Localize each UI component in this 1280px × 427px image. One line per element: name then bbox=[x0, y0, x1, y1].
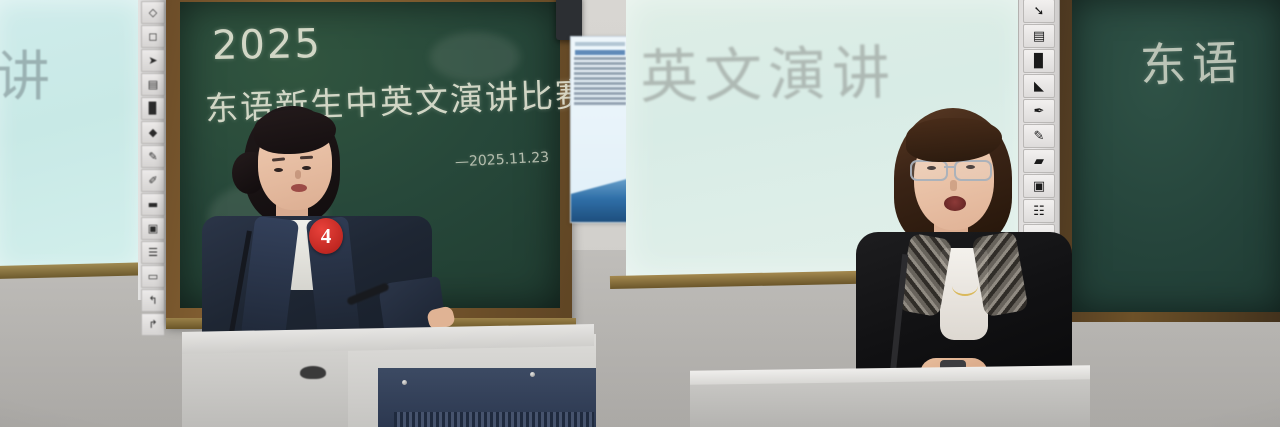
classroom-scene: 讲 ◇ ◻ ➤ ▤ ▉ ◆ ✎ ✐ ▬ ▣ ☰ ▭ ↰ ↱ 2025 东语新生中… bbox=[0, 0, 1280, 427]
smartboard-toolbar-left[interactable]: ◇ ◻ ➤ ▤ ▉ ◆ ✎ ✐ ▬ ▣ ☰ ▭ ↰ ↱ bbox=[138, 0, 169, 300]
projection-right-text: 英文演讲 bbox=[639, 26, 896, 114]
podium-left-side-panel bbox=[182, 346, 350, 427]
ceiling-vent bbox=[556, 0, 582, 40]
eye bbox=[302, 166, 311, 170]
speaker-right bbox=[848, 108, 1078, 393]
chalkboard-right-text: 东语 bbox=[1139, 27, 1245, 96]
pencil-tool-icon[interactable]: ✐ bbox=[141, 169, 165, 192]
glasses-bridge bbox=[944, 166, 954, 168]
panel-screw bbox=[402, 380, 407, 385]
redo-tool-icon[interactable]: ↱ bbox=[141, 313, 165, 336]
cursor-tool-icon[interactable]: ➤ bbox=[141, 49, 165, 72]
lines-tool-icon[interactable]: ▤ bbox=[1023, 24, 1055, 48]
poster-line bbox=[574, 102, 626, 105]
poster-line bbox=[574, 72, 626, 75]
contestant-number-badge: 4 bbox=[309, 218, 343, 254]
poster-line bbox=[574, 92, 626, 95]
save-tool-icon[interactable]: ▣ bbox=[141, 217, 165, 240]
glasses-lens-right bbox=[954, 160, 992, 181]
eyeglasses bbox=[910, 160, 1000, 177]
document-tool-icon[interactable]: ▉ bbox=[1023, 49, 1055, 73]
mouth bbox=[944, 196, 966, 211]
poster-wave-blue bbox=[571, 170, 629, 222]
chalkboard-year-text: 2025 bbox=[212, 21, 323, 69]
podium-left bbox=[182, 324, 594, 427]
poster-line bbox=[574, 62, 626, 65]
podium-left-vents bbox=[394, 412, 594, 427]
lines-tool-icon[interactable]: ▤ bbox=[141, 73, 165, 96]
poster-line bbox=[574, 87, 626, 90]
podium-right bbox=[690, 368, 1090, 427]
speaker-left: 4 bbox=[196, 108, 446, 348]
podium-right-front-panel bbox=[690, 379, 1090, 427]
shapes-tool-icon[interactable]: ◇ bbox=[141, 1, 165, 24]
poster-line bbox=[574, 67, 626, 70]
cursor-tool-icon[interactable]: ➘ bbox=[1023, 0, 1055, 23]
badge-number-text: 4 bbox=[309, 218, 343, 254]
eyebrow bbox=[300, 156, 313, 160]
undo-tool-icon[interactable]: ↰ bbox=[141, 289, 165, 312]
poster-line bbox=[574, 77, 626, 80]
nose bbox=[295, 170, 301, 179]
projection-screen-left bbox=[0, 0, 142, 272]
projection-left-text: 讲 bbox=[0, 42, 56, 112]
poster-line bbox=[574, 57, 626, 60]
panel-screw bbox=[530, 372, 535, 377]
eyebrow bbox=[272, 157, 285, 161]
document-tool-icon[interactable]: ▉ bbox=[141, 97, 165, 120]
mouth bbox=[291, 184, 307, 192]
marker-tool-icon[interactable]: ◣ bbox=[1023, 74, 1055, 98]
eraser-tool-icon[interactable]: ▬ bbox=[141, 193, 165, 216]
shapes-tool-2-icon[interactable]: ◻ bbox=[141, 25, 165, 48]
marker-tool-icon[interactable]: ◆ bbox=[141, 121, 165, 144]
wall-poster bbox=[570, 36, 630, 223]
glasses-lens-left bbox=[910, 160, 948, 181]
eye bbox=[274, 168, 283, 172]
rectangle-tool-icon[interactable]: ▭ bbox=[141, 265, 165, 288]
microphone-right bbox=[300, 366, 326, 379]
necklace bbox=[952, 276, 978, 296]
poster-header-bar bbox=[575, 42, 625, 46]
poster-line bbox=[574, 82, 626, 85]
nose bbox=[950, 180, 957, 191]
list-tool-icon[interactable]: ☰ bbox=[141, 241, 165, 264]
pen-tool-icon[interactable]: ✎ bbox=[141, 145, 165, 168]
poster-line bbox=[574, 97, 626, 100]
poster-subtitle-bar bbox=[575, 50, 625, 55]
